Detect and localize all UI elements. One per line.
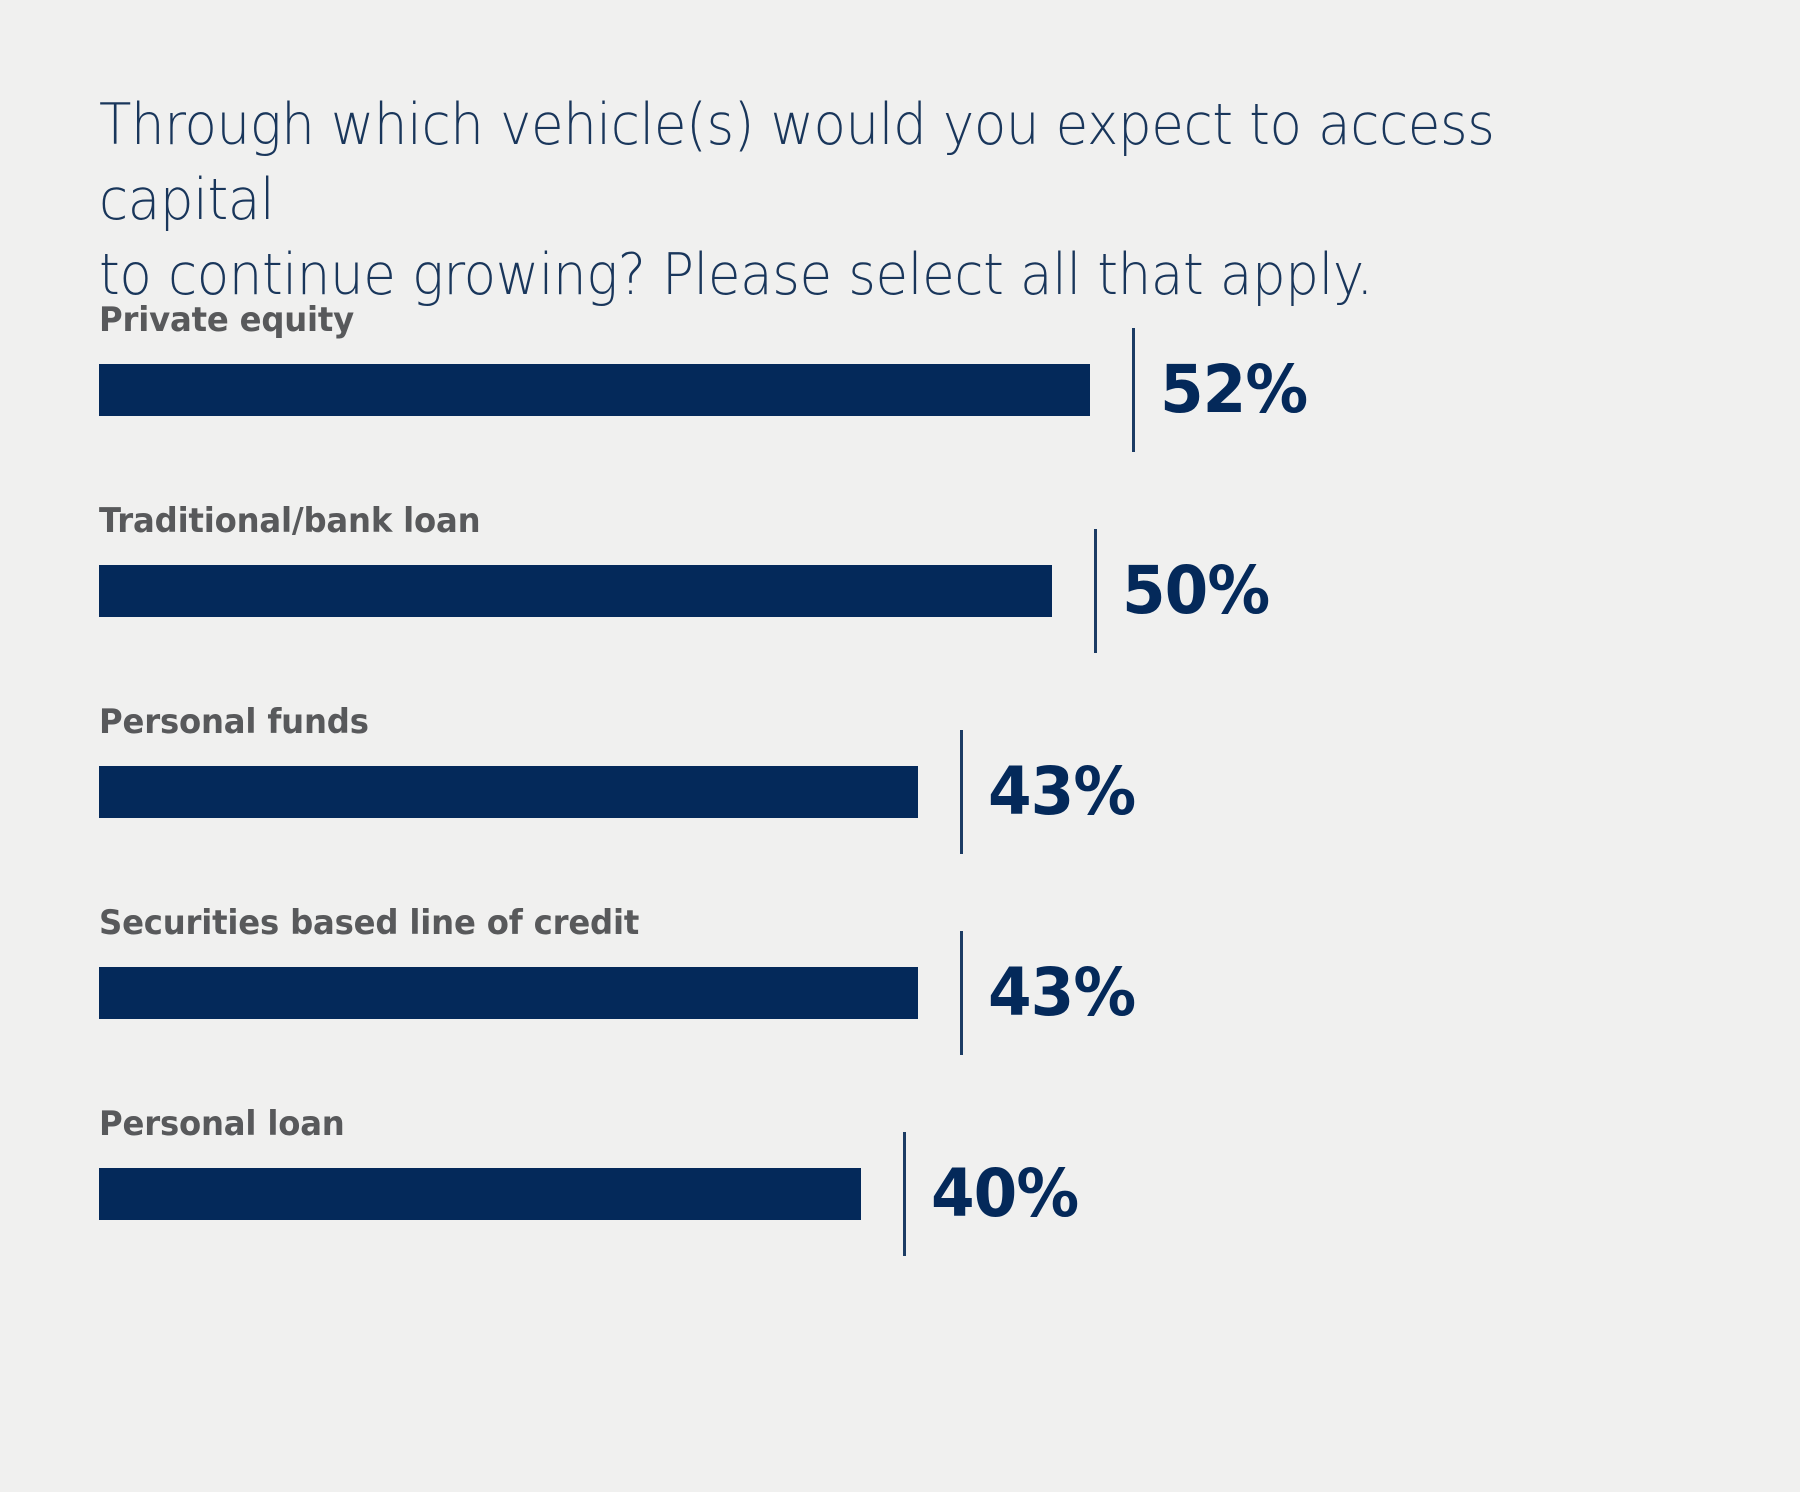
chart-title: Through which vehicle(s) would you expec…	[99, 88, 1606, 313]
bar-row: Securities based line of credit 43%	[0, 903, 1800, 1104]
bar-track: 50%	[99, 565, 1699, 617]
bar-fill	[99, 766, 918, 818]
bar-value-label: 50%	[1122, 543, 1269, 639]
chart-title-line-2: to continue growing? Please select all t…	[99, 242, 1373, 308]
bar-track: 52%	[99, 364, 1699, 416]
bar-value-tick	[960, 730, 963, 854]
bar-fill	[99, 1168, 861, 1220]
bar-value-tick	[1094, 529, 1097, 653]
bar-value-label: 43%	[988, 744, 1135, 840]
bar-value-label: 52%	[1160, 342, 1307, 438]
bar-category-label: Traditional/bank loan	[99, 501, 480, 541]
bar-row: Private equity 52%	[0, 300, 1800, 501]
bar-category-label: Personal funds	[99, 702, 369, 742]
bar-value-tick	[1132, 328, 1135, 452]
bar-value-tick	[960, 931, 963, 1055]
bar-category-label: Private equity	[99, 300, 354, 340]
bar-chart-figure: Through which vehicle(s) would you expec…	[0, 0, 1800, 1492]
bar-fill	[99, 967, 918, 1019]
bar-row: Traditional/bank loan 50%	[0, 501, 1800, 702]
bar-rows-container: Private equity 52% Traditional/bank loan…	[0, 300, 1800, 1305]
bar-fill	[99, 364, 1090, 416]
bar-value-label: 40%	[931, 1146, 1078, 1242]
bar-category-label: Securities based line of credit	[99, 903, 639, 943]
bar-track: 43%	[99, 766, 1699, 818]
bar-fill	[99, 565, 1052, 617]
bar-track: 43%	[99, 967, 1699, 1019]
bar-category-label: Personal loan	[99, 1104, 345, 1144]
chart-title-line-1: Through which vehicle(s) would you expec…	[99, 92, 1494, 233]
bar-row: Personal funds 43%	[0, 702, 1800, 903]
bar-track: 40%	[99, 1168, 1699, 1220]
bar-value-tick	[903, 1132, 906, 1256]
bar-row: Personal loan 40%	[0, 1104, 1800, 1305]
bar-value-label: 43%	[988, 945, 1135, 1041]
